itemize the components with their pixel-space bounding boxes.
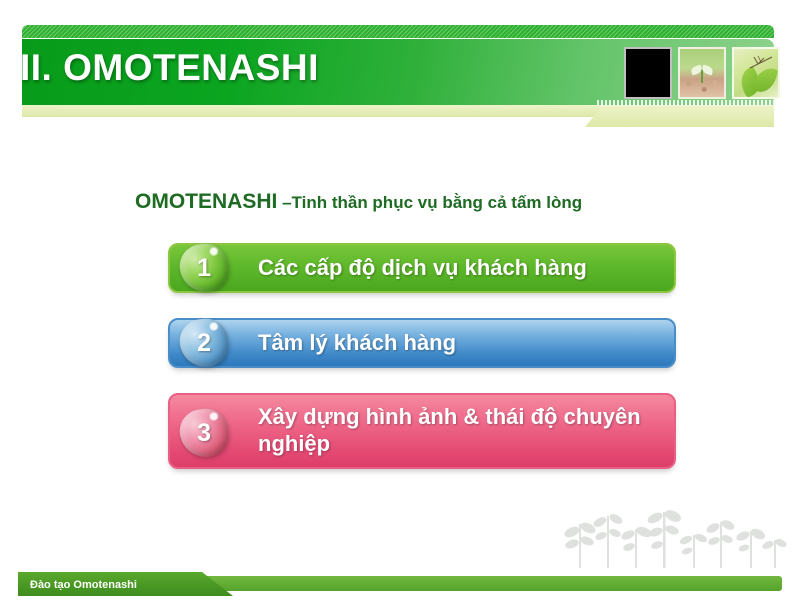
list-item-3[interactable]: 3 Xây dựng hình ảnh & thái độ chuyên ngh… xyxy=(168,393,676,469)
header-thumbnail-group xyxy=(624,47,780,99)
page-title: II. OMOTENASHI xyxy=(20,47,319,89)
subtitle-lead: OMOTENASHI xyxy=(135,190,277,213)
item-number-2: 2 xyxy=(197,329,211,358)
item-label-1: Các cấp độ dịch vụ khách hàng xyxy=(258,255,660,282)
droplet-badge-1: 1 xyxy=(177,241,231,295)
leaves-photo-thumbnail xyxy=(732,47,780,99)
item-label-2: Tâm lý khách hàng xyxy=(258,330,660,357)
slide-canvas: II. OMOTENASHI OMOTENASHI –Tinh thần phụ… xyxy=(0,0,800,614)
header-dotted-line xyxy=(597,100,774,106)
sprout-photo-thumbnail xyxy=(678,47,726,99)
list-item-1[interactable]: 1 Các cấp độ dịch vụ khách hàng xyxy=(168,243,676,293)
item-number-3: 3 xyxy=(197,419,211,448)
dragonfly-icon xyxy=(748,55,774,71)
black-square-thumbnail xyxy=(624,47,672,99)
subtitle: OMOTENASHI –Tinh thần phục vụ bằng cả tấ… xyxy=(135,190,582,214)
header-underband-step xyxy=(585,105,774,127)
droplet-badge-3: 3 xyxy=(177,406,231,460)
list-item-2[interactable]: 2 Tâm lý khách hàng xyxy=(168,318,676,368)
header-top-stripe xyxy=(22,25,774,39)
item-label-3: Xây dựng hình ảnh & thái độ chuyên nghiệ… xyxy=(258,404,660,458)
subtitle-rest: –Tinh thần phục vụ bằng cả tấm lòng xyxy=(277,193,582,212)
footer-text: Đào tạo Omotenashi xyxy=(30,579,137,591)
droplet-badge-2: 2 xyxy=(177,316,231,370)
item-number-1: 1 xyxy=(197,254,211,283)
grass-silhouette-decoration xyxy=(560,502,790,568)
